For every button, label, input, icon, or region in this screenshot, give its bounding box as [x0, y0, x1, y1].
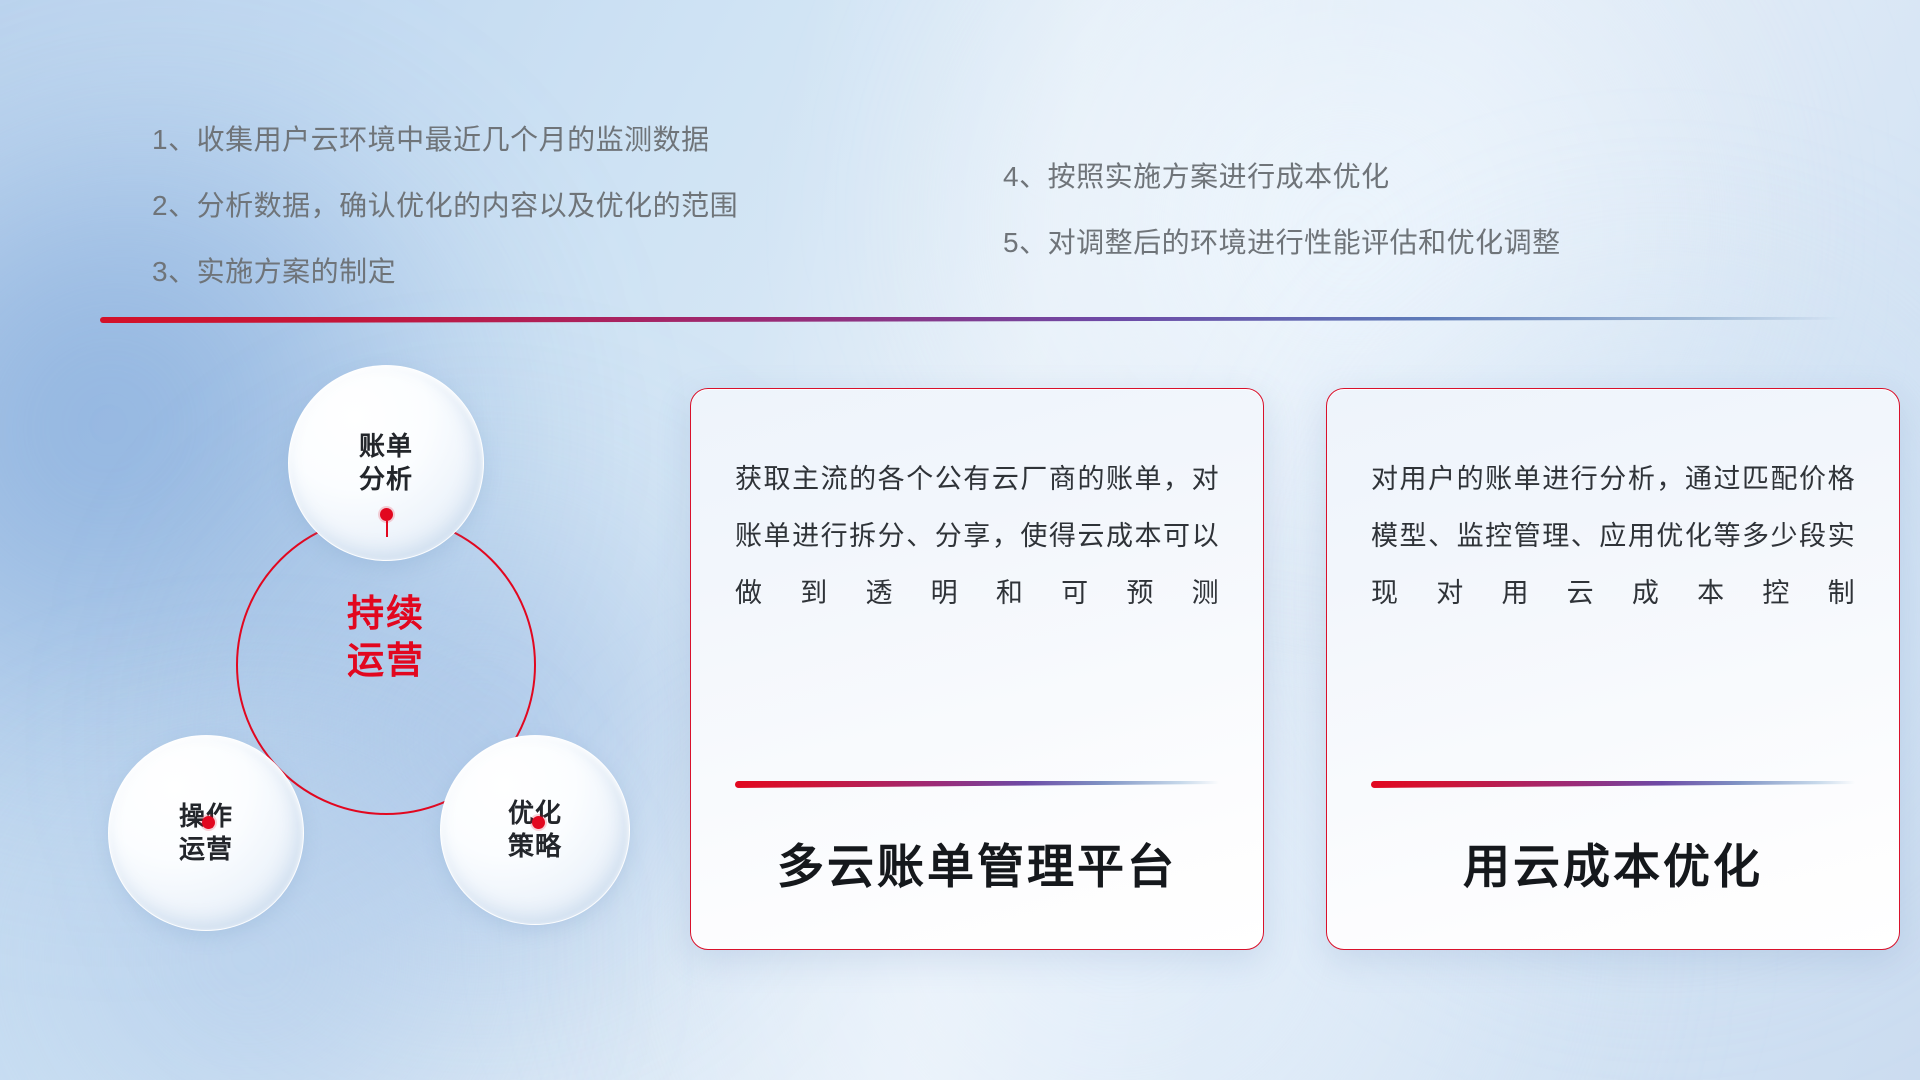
bubble-line-1: 账单	[359, 430, 413, 463]
step-item-4: 4、按照实施方案进行成本优化	[1003, 155, 1561, 195]
step-item-2: 2、分析数据，确认优化的内容以及优化的范围	[152, 184, 738, 224]
step-item-1: 1、收集用户云环境中最近几个月的监测数据	[152, 118, 738, 158]
step-item-5: 5、对调整后的环境进行性能评估和优化调整	[1003, 221, 1561, 261]
bubble-label-operations: 操作 运营	[179, 800, 233, 867]
node-dot-bottom-right-icon	[532, 816, 545, 829]
card-divider-rule	[1371, 781, 1855, 788]
node-dot-bottom-left-icon	[202, 816, 215, 829]
diagram-bubble-operations[interactable]: 操作 运营	[108, 735, 304, 931]
center-label-line-1: 持续	[276, 591, 496, 638]
card-title: 用云成本优化	[1371, 788, 1855, 949]
connector-stem-top	[386, 521, 388, 537]
steps-left-column: 1、收集用户云环境中最近几个月的监测数据 2、分析数据，确认优化的内容以及优化的…	[152, 118, 738, 290]
card-title: 多云账单管理平台	[735, 788, 1219, 949]
feature-cards: 获取主流的各个公有云厂商的账单，对账单进行拆分、分享，使得云成本可以做到透明和可…	[690, 388, 1900, 950]
bubble-label-bill-analysis: 账单 分析	[359, 430, 413, 497]
bubble-label-optimization-strategy: 优化 策略	[508, 797, 562, 864]
continuous-operation-diagram: 持续 运营 账单 分析 操作 运营 优化 策略	[100, 355, 640, 945]
steps-right-column: 4、按照实施方案进行成本优化 5、对调整后的环境进行性能评估和优化调整	[1003, 155, 1561, 261]
card-body-text: 对用户的账单进行分析，通过匹配价格模型、监控管理、应用优化等多少段实现对用云成本…	[1371, 451, 1855, 623]
center-label-line-2: 运营	[276, 638, 496, 685]
card-cloud-cost-optimization[interactable]: 对用户的账单进行分析，通过匹配价格模型、监控管理、应用优化等多少段实现对用云成本…	[1326, 388, 1900, 950]
bubble-line-2: 策略	[508, 830, 562, 863]
bubble-line-2: 运营	[179, 833, 233, 866]
card-multi-cloud-bill-platform[interactable]: 获取主流的各个公有云厂商的账单，对账单进行拆分、分享，使得云成本可以做到透明和可…	[690, 388, 1264, 950]
step-item-3: 3、实施方案的制定	[152, 250, 738, 290]
diagram-center-label: 持续 运营	[276, 591, 496, 684]
card-body-text: 获取主流的各个公有云厂商的账单，对账单进行拆分、分享，使得云成本可以做到透明和可…	[735, 451, 1219, 623]
card-divider-rule	[735, 781, 1219, 788]
diagram-bubble-optimization-strategy[interactable]: 优化 策略	[440, 735, 630, 925]
bubble-line-2: 分析	[359, 463, 413, 496]
node-dot-top-icon	[380, 508, 393, 521]
